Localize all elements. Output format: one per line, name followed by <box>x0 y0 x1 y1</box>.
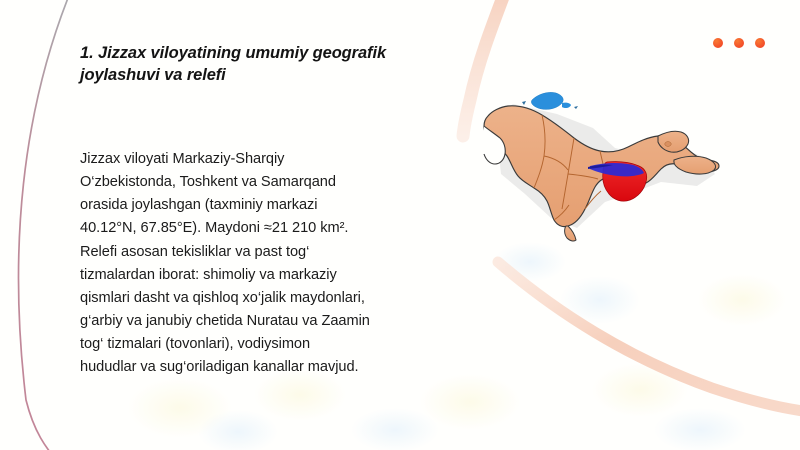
decorative-dot-3 <box>755 38 765 48</box>
left-rose-arc <box>18 0 72 450</box>
decorative-dot-group <box>713 36 765 50</box>
text-column: 1. Jizzax viloyatining umumiy geografik … <box>80 42 440 86</box>
slide-body-text: Jizzax viloyati Markaziy-Sharqiy O‘zbeki… <box>80 148 440 379</box>
decorative-dot-1 <box>713 38 723 48</box>
slide-title: 1. Jizzax viloyatining umumiy geografik … <box>80 42 440 86</box>
decorative-dot-2 <box>734 38 744 48</box>
uzbekistan-map-image <box>462 78 727 243</box>
southern-region-tail <box>565 226 576 241</box>
slide-canvas: 1. Jizzax viloyatining umumiy geografik … <box>0 0 800 450</box>
bottom-salmon-sweep <box>498 262 800 412</box>
